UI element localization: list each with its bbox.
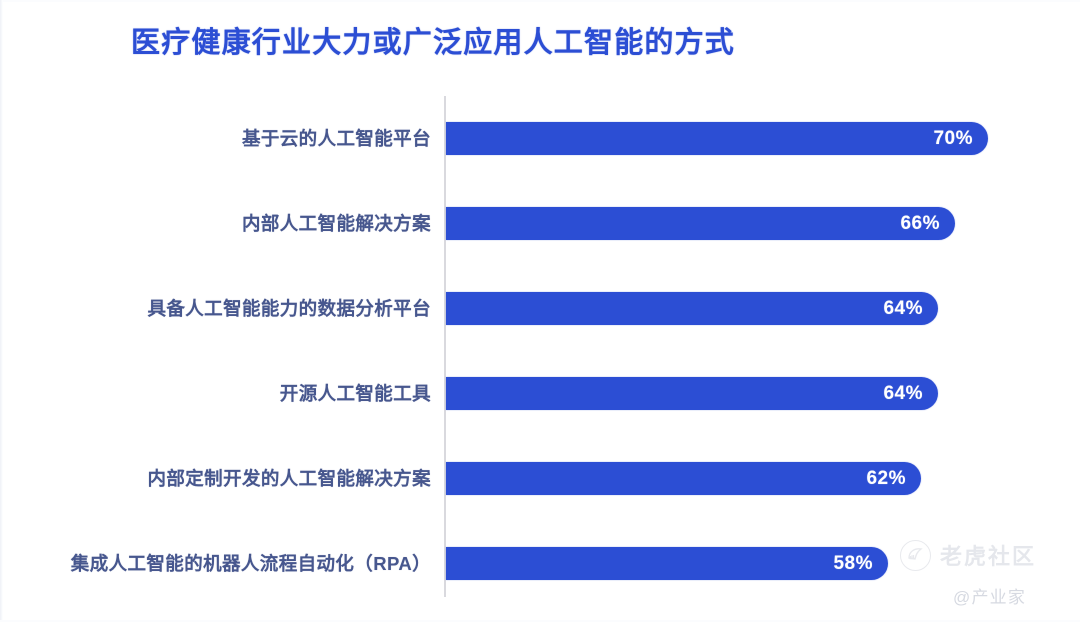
y-axis-line xyxy=(444,96,446,597)
bar: 64% xyxy=(446,292,938,325)
bar-value-label: 58% xyxy=(833,547,873,580)
category-label: 内部定制开发的人工智能解决方案 xyxy=(147,462,431,495)
bar-value-label: 70% xyxy=(933,122,973,155)
category-label: 内部人工智能解决方案 xyxy=(242,207,431,240)
tiger-circle-logo-icon xyxy=(900,540,931,571)
category-label: 开源人工智能工具 xyxy=(280,377,431,410)
category-label: 具备人工智能能力的数据分析平台 xyxy=(147,292,431,325)
bar: 64% xyxy=(446,377,938,410)
watermark-brand: 老虎社区 xyxy=(900,539,1036,571)
bar-value-label: 66% xyxy=(900,207,940,240)
bar-value-label: 64% xyxy=(883,292,923,325)
bar-row: 具备人工智能能力的数据分析平台64% xyxy=(0,292,1080,325)
watermark-brand-text: 老虎社区 xyxy=(940,539,1036,571)
bar-value-label: 62% xyxy=(866,462,906,495)
bar-row: 基于云的人工智能平台70% xyxy=(0,122,1080,155)
bar: 70% xyxy=(446,122,988,155)
plot-area: 基于云的人工智能平台70%内部人工智能解决方案66%具备人工智能能力的数据分析平… xyxy=(0,0,1080,622)
chart-screenshot: 医疗健康行业大力或广泛应用人工智能的方式 基于云的人工智能平台70%内部人工智能… xyxy=(0,0,1080,622)
bar-row: 内部人工智能解决方案66% xyxy=(0,207,1080,240)
bar-value-label: 64% xyxy=(883,377,923,410)
category-label: 集成人工智能的机器人流程自动化（RPA） xyxy=(71,547,431,580)
bar: 62% xyxy=(446,462,921,495)
bar: 66% xyxy=(446,207,955,240)
bar-row: 内部定制开发的人工智能解决方案62% xyxy=(0,462,1080,495)
bar-row: 开源人工智能工具64% xyxy=(0,377,1080,410)
watermark-handle: @产业家 xyxy=(953,583,1026,608)
bar: 58% xyxy=(446,547,888,580)
category-label: 基于云的人工智能平台 xyxy=(242,122,431,155)
